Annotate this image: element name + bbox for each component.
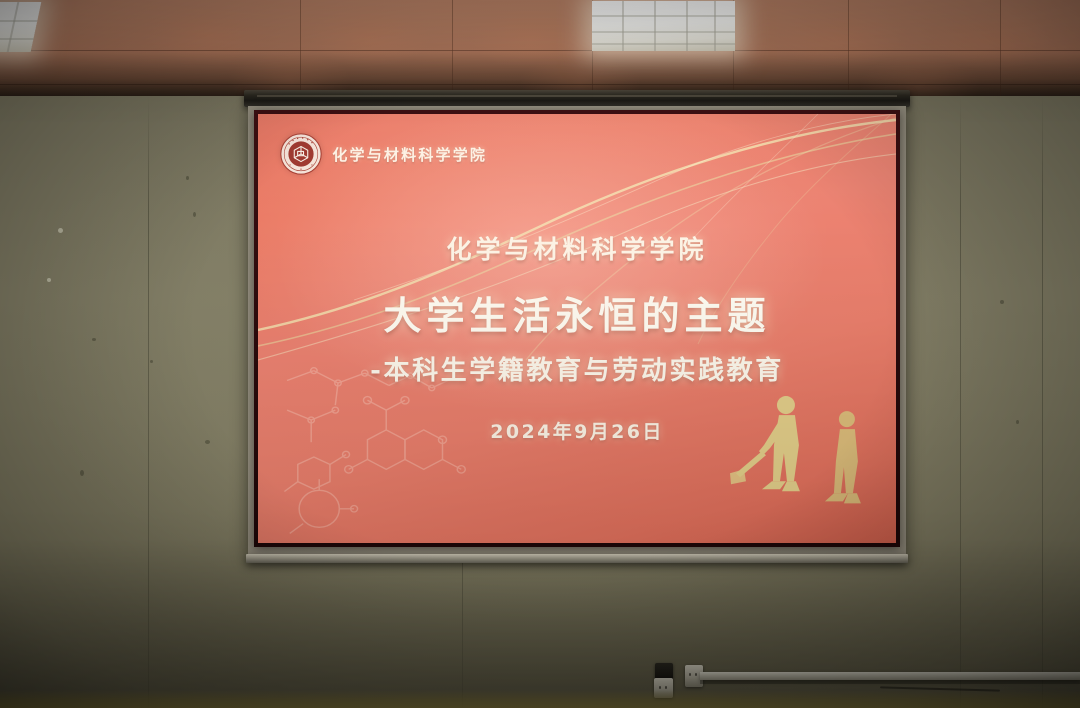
wall-blemish <box>1016 420 1019 424</box>
projection-screen-roller[interactable] <box>244 90 910 107</box>
slide-department-line: 化学与材料科学学院 <box>258 230 896 266</box>
svg-text:·: · <box>289 139 290 143</box>
university-seal-icon: · <box>280 133 322 175</box>
slide-header: · 化学与材料科学学院 <box>280 133 487 175</box>
presentation-slide[interactable]: · 化学与材料科学学院 化学与材料科学学院 大学生活永恒的主题 -本科生学籍教 <box>258 114 896 543</box>
slide-subtitle: -本科生学籍教育与劳动实践教育 <box>258 350 896 387</box>
lecture-hall-photo: · 化学与材料科学学院 化学与材料科学学院 大学生活永恒的主题 -本科生学籍教 <box>0 0 1080 708</box>
slide-main-title: 大学生活永恒的主题 <box>258 285 896 340</box>
wall-seam <box>960 96 961 708</box>
slide-org-name: 化学与材料科学学院 <box>332 144 487 165</box>
wall-blemish <box>1000 300 1004 304</box>
slide-title-block: 化学与材料科学学院 大学生活永恒的主题 -本科生学籍教育与劳动实践教育 2024… <box>258 230 896 444</box>
floor-strip <box>0 690 1080 708</box>
wall-highlight <box>47 278 51 282</box>
wall-blemish <box>92 338 96 341</box>
ceiling <box>0 0 1080 96</box>
wall-blemish <box>80 470 84 476</box>
rail-shadow <box>700 680 1080 684</box>
slide-date: 2024年9月26日 <box>258 417 896 444</box>
slide-frame: · 化学与材料科学学院 化学与材料科学学院 大学生活永恒的主题 -本科生学籍教 <box>254 110 900 547</box>
wall-highlight <box>58 228 63 233</box>
wall-seam <box>148 96 149 708</box>
projection-screen-bottom-bar[interactable] <box>246 554 908 563</box>
wall-blemish <box>205 440 210 444</box>
wall-blemish <box>186 176 189 180</box>
wall-blemish <box>193 212 196 217</box>
whiteboard-rail <box>700 672 1080 680</box>
wall-seam <box>1042 96 1043 708</box>
roller-highlight <box>257 95 896 97</box>
ceiling-shadow <box>0 0 1080 96</box>
wall-blemish <box>150 360 153 363</box>
